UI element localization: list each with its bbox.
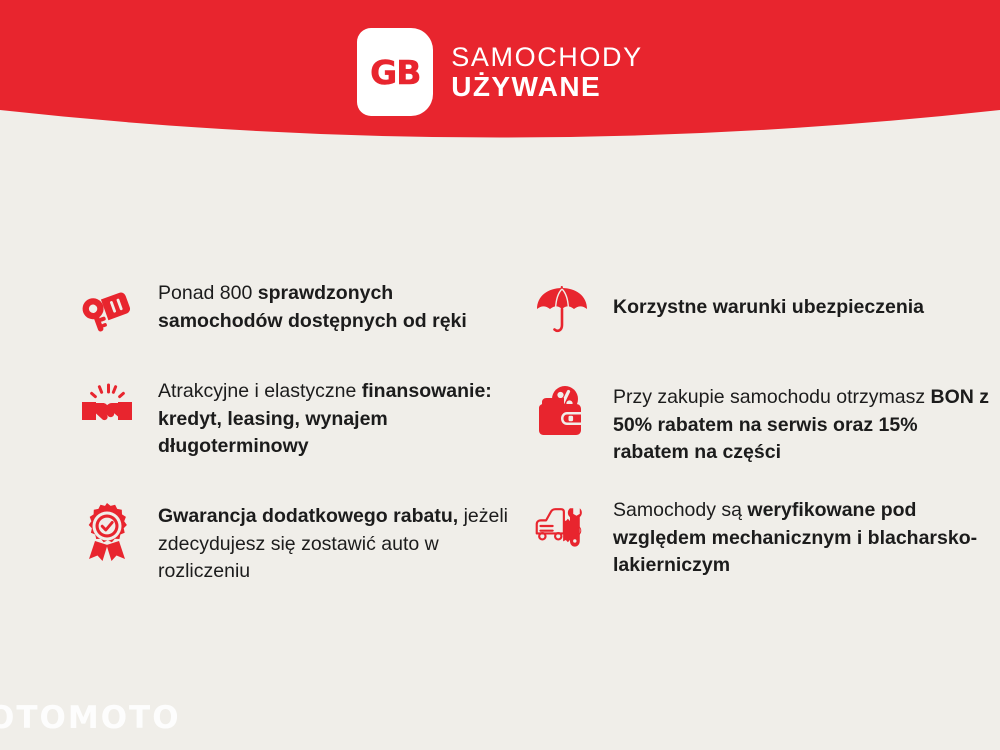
brand-wordmark: SAMOCHODY UŻYWANE: [451, 41, 642, 102]
feature-text-insurance: Korzystne warunki ubezpieczenia: [613, 294, 924, 322]
feature-text-financing: Atrakcyjne i elastyczne finansowanie: kr…: [158, 376, 518, 461]
feature-lead-stock: Ponad 800: [158, 282, 258, 304]
feature-lead-financing: Atrakcyjne i elastyczne: [158, 380, 362, 402]
gb-logo-mark: GB: [357, 28, 433, 116]
brand-line-uzywane: UŻYWANE: [451, 72, 642, 102]
brand-line-samochody: SAMOCHODY: [451, 43, 642, 72]
feature-item-inspection: Samochody są weryfikowane pod względem m…: [533, 495, 1000, 580]
feature-text-inspection: Samochody są weryfikowane pod względem m…: [613, 495, 993, 580]
features-column-right: Korzystne warunki ubezpieczenia Przy zak…: [533, 278, 1000, 586]
feature-bold-insurance: Korzystne warunki ubezpieczenia: [613, 296, 924, 318]
gb-logo-text: GB: [370, 56, 420, 89]
features-column-left: Ponad 800 sprawdzonych samochodów dostęp…: [78, 278, 533, 586]
handshake-icon: [78, 378, 136, 436]
feature-item-voucher: Przy zakupie samochodu otrzymasz BON z 5…: [533, 382, 1000, 467]
wallet-percent-icon: [533, 384, 591, 442]
features-grid: Ponad 800 sprawdzonych samochodów dostęp…: [0, 278, 1000, 586]
award-rosette-icon: [78, 503, 136, 561]
car-wrench-icon: [533, 497, 591, 555]
feature-item-financing: Atrakcyjne i elastyczne finansowanie: kr…: [78, 376, 533, 461]
brand-lockup: GB SAMOCHODY UŻYWANE: [0, 22, 1000, 122]
feature-lead-voucher: Przy zakupie samochodu otrzymasz: [613, 386, 931, 408]
otomoto-watermark: OTOMOTO: [0, 700, 181, 736]
feature-text-voucher: Przy zakupie samochodu otrzymasz BON z 5…: [613, 382, 993, 467]
feature-item-stock: Ponad 800 sprawdzonych samochodów dostęp…: [78, 278, 533, 338]
feature-text-stock: Ponad 800 sprawdzonych samochodów dostęp…: [158, 278, 518, 335]
feature-item-guarantee: Gwarancja dodatkowego rabatu, jeżeli zde…: [78, 501, 533, 586]
umbrella-icon: [533, 280, 591, 338]
feature-lead-inspection: Samochody są: [613, 499, 747, 521]
feature-bold-guarantee: Gwarancja dodatkowego rabatu,: [158, 505, 458, 527]
key-tag-icon: [78, 280, 136, 338]
feature-text-guarantee: Gwarancja dodatkowego rabatu, jeżeli zde…: [158, 501, 518, 586]
feature-item-insurance: Korzystne warunki ubezpieczenia: [533, 278, 1000, 338]
